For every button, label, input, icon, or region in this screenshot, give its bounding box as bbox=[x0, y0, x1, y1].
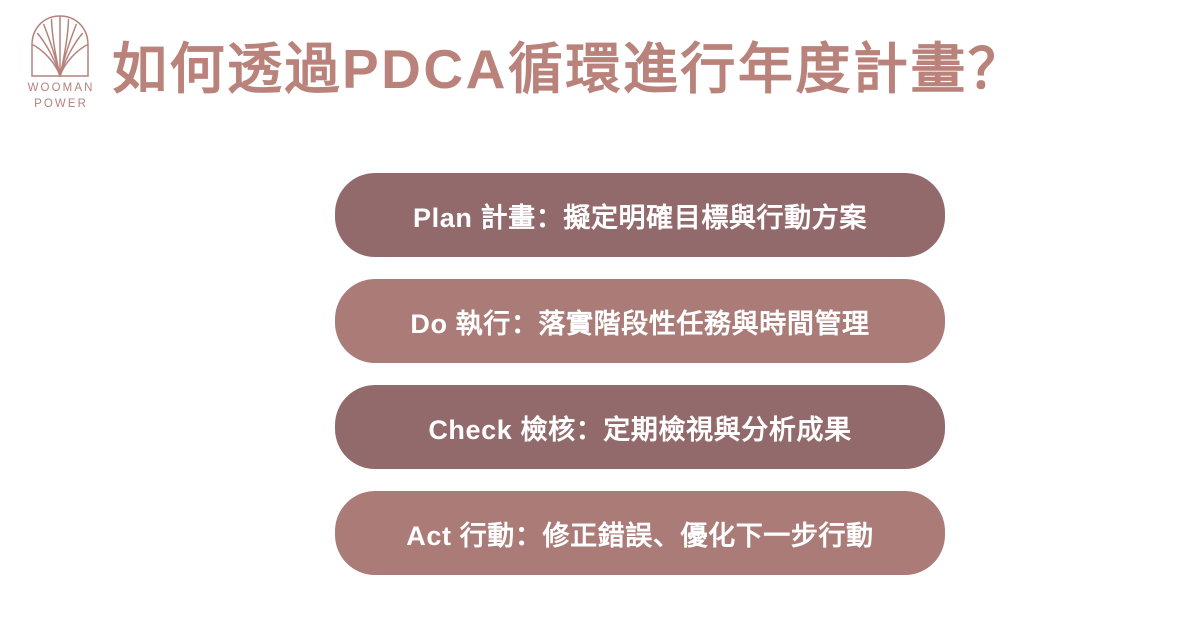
brand-wordmark: WOOMAN POWER bbox=[26, 81, 95, 112]
step-label-do: Do 執行：落實階段性任務與時間管理 bbox=[410, 302, 869, 341]
pdca-step-list: Plan 計畫：擬定明確目標與行動方案 Do 執行：落實階段性任務與時間管理 C… bbox=[335, 173, 945, 575]
brand-word-line2: POWER bbox=[32, 97, 88, 113]
step-label-act: Act 行動：修正錯誤、優化下一步行動 bbox=[406, 514, 873, 553]
step-label-plan: Plan 計畫：擬定明確目標與行動方案 bbox=[413, 196, 867, 235]
brand-logo: WOOMAN POWER bbox=[14, 14, 106, 122]
page-title: 如何透過PDCA循環進行年度計畫？ bbox=[112, 38, 1025, 101]
step-pill-check: Check 檢核：定期檢視與分析成果 bbox=[335, 385, 945, 469]
step-pill-plan: Plan 計畫：擬定明確目標與行動方案 bbox=[335, 173, 945, 257]
step-label-check: Check 檢核：定期檢視與分析成果 bbox=[428, 408, 851, 447]
step-pill-act: Act 行動：修正錯誤、優化下一步行動 bbox=[335, 491, 945, 575]
header: WOOMAN POWER 如何透過PDCA循環進行年度計畫？ bbox=[0, 0, 1200, 140]
brand-word-line1: WOOMAN bbox=[26, 81, 95, 97]
arch-fan-logo-icon bbox=[29, 14, 91, 78]
slide-canvas: WOOMAN POWER 如何透過PDCA循環進行年度計畫？ Plan 計畫：擬… bbox=[0, 0, 1200, 630]
step-pill-do: Do 執行：落實階段性任務與時間管理 bbox=[335, 279, 945, 363]
